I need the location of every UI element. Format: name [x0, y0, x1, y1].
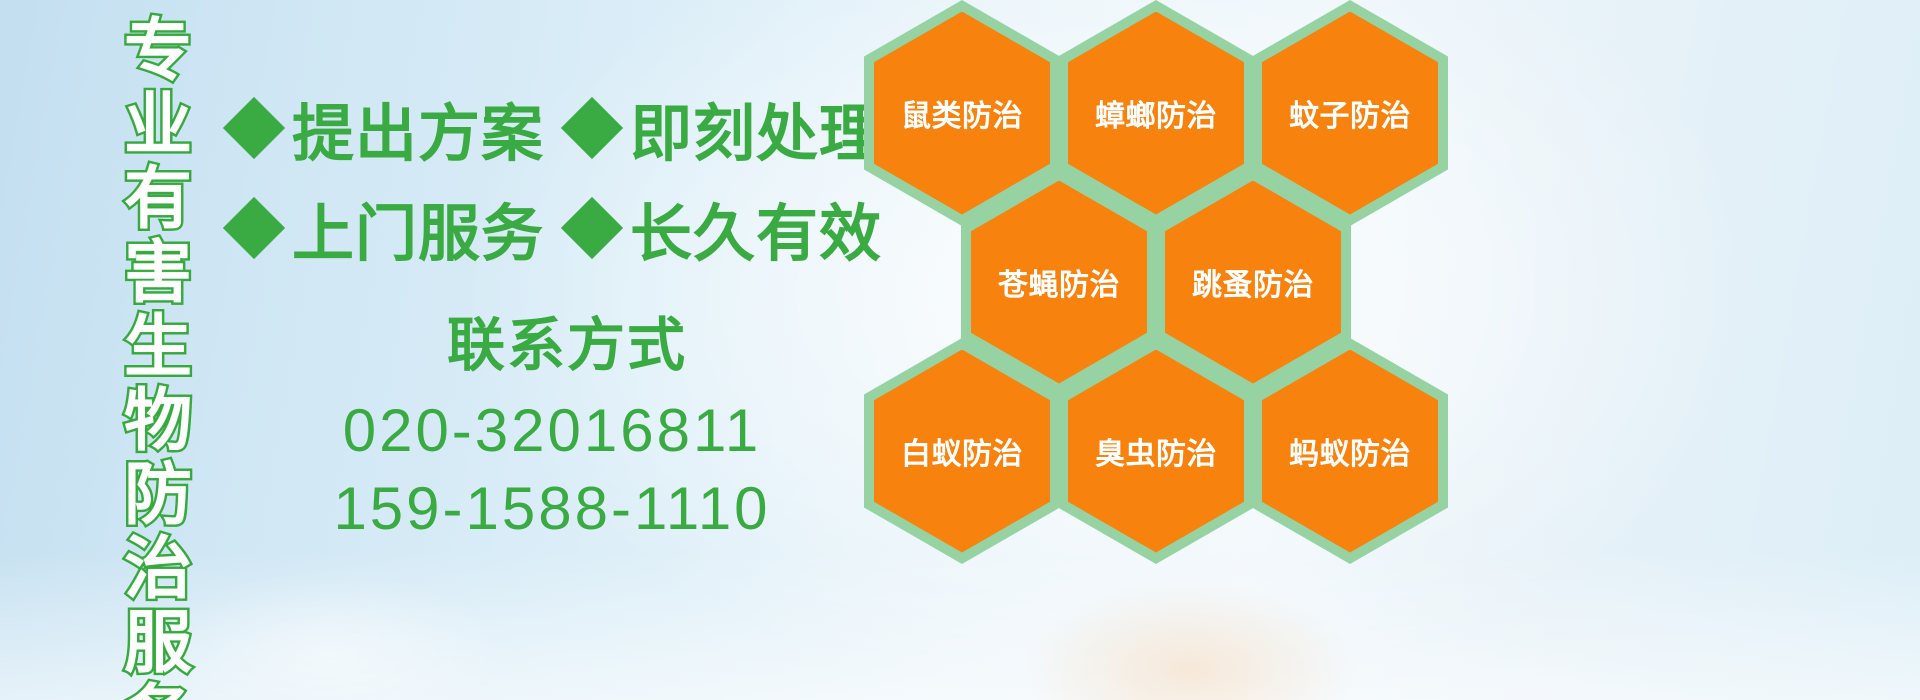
- hex-inner-fill: 蟑螂防治: [1068, 12, 1244, 215]
- hex-inner-fill: 苍蝇防治: [971, 181, 1147, 384]
- vertical-headline-char: 专: [124, 14, 192, 88]
- hex-inner-fill: 白蚁防治: [874, 350, 1050, 553]
- phone-number-landline[interactable]: 020-32016811: [232, 392, 872, 470]
- hex-inner-fill: 蚂蚁防治: [1262, 350, 1438, 553]
- hex-inner-fill: 鼠类防治: [874, 12, 1050, 215]
- contact-title: 联系方式: [232, 300, 872, 392]
- diamond-icon: [223, 197, 285, 259]
- feature-item: 上门服务: [232, 183, 570, 273]
- feature-label: 上门服务: [292, 183, 544, 273]
- feature-row: 提出方案 即刻处理: [232, 78, 862, 178]
- phone-number-mobile[interactable]: 159-1588-1110: [232, 470, 872, 548]
- service-hex-label: 白蚁防治: [901, 429, 1023, 473]
- service-hexagon-grid: 鼠类防治 蟑螂防治 蚊子防治 苍蝇防治 跳蚤防治 白蚁防治: [862, 0, 1482, 700]
- vertical-headline-char: 防: [124, 458, 192, 532]
- contact-block: 联系方式 020-32016811 159-1588-1110: [232, 300, 872, 548]
- feature-label: 提出方案: [292, 83, 544, 173]
- service-hex-label: 臭虫防治: [1095, 429, 1217, 473]
- feature-item: 长久有效: [570, 183, 908, 273]
- diamond-icon: [561, 197, 623, 259]
- vertical-headline: 专 业 有 害 生 物 防 治 服 务: [104, 14, 212, 686]
- vertical-headline-char: 服: [124, 606, 192, 680]
- vertical-headline-char: 有: [124, 162, 192, 236]
- feature-item: 提出方案: [232, 83, 570, 173]
- service-hex-label: 蟑螂防治: [1095, 91, 1217, 135]
- feature-row: 上门服务 长久有效: [232, 178, 862, 278]
- vertical-headline-char: 务: [124, 680, 192, 700]
- diamond-icon: [223, 97, 285, 159]
- vertical-headline-char: 生: [124, 310, 192, 384]
- feature-list: 提出方案 即刻处理 上门服务 长久有效: [232, 78, 862, 278]
- vertical-headline-char: 物: [124, 384, 192, 458]
- hex-inner-fill: 臭虫防治: [1068, 350, 1244, 553]
- service-hex-label: 跳蚤防治: [1192, 260, 1314, 304]
- hex-inner-fill: 蚊子防治: [1262, 12, 1438, 215]
- diamond-icon: [561, 97, 623, 159]
- feature-item: 即刻处理: [570, 83, 908, 173]
- hex-inner-fill: 跳蚤防治: [1165, 181, 1341, 384]
- service-hex-label: 鼠类防治: [901, 91, 1023, 135]
- vertical-headline-char: 治: [124, 532, 192, 606]
- feature-label: 长久有效: [630, 183, 882, 273]
- feature-label: 即刻处理: [630, 83, 882, 173]
- service-hex-label: 蚊子防治: [1289, 91, 1411, 135]
- service-hex-label: 苍蝇防治: [998, 260, 1120, 304]
- pest-control-banner: 专 业 有 害 生 物 防 治 服 务 提出方案 即刻处理 上门服务: [0, 0, 1920, 700]
- vertical-headline-char: 害: [124, 236, 192, 310]
- vertical-headline-char: 业: [124, 88, 192, 162]
- service-hex-label: 蚂蚁防治: [1289, 429, 1411, 473]
